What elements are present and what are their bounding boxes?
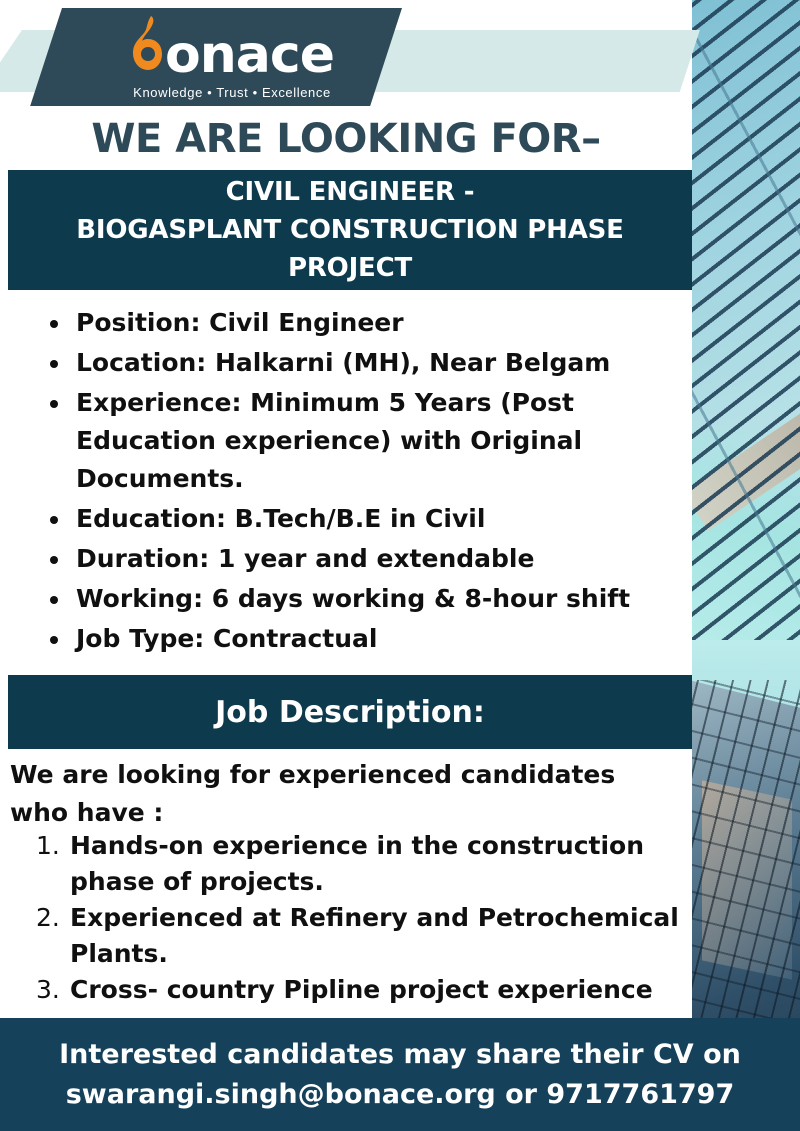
- list-item: Job Type: Contractual: [40, 620, 680, 658]
- footer-contact[interactable]: swarangi.singh@bonace.org or 9717761797: [66, 1075, 735, 1115]
- role-line-2: BIOGASPLANT CONSTRUCTION PHASE: [76, 211, 623, 249]
- list-item: Experienced at Refinery and Petrochemica…: [36, 900, 686, 972]
- role-line-1: CIVIL ENGINEER -: [226, 173, 475, 211]
- list-item: Location: Halkarni (MH), Near Belgam: [40, 344, 680, 382]
- list-item: Hands-on experience in the construction …: [36, 828, 686, 900]
- role-banner: CIVIL ENGINEER - BIOGASPLANT CONSTRUCTIO…: [8, 170, 692, 290]
- job-description-list: Hands-on experience in the construction …: [36, 828, 686, 1008]
- job-details-list: Position: Civil Engineer Location: Halka…: [40, 304, 680, 660]
- flame-b-icon: [130, 14, 164, 72]
- list-item: Position: Civil Engineer: [40, 304, 680, 342]
- list-item: Working: 6 days working & 8-hour shift: [40, 580, 680, 618]
- list-item: Education: B.Tech/B.E in Civil: [40, 500, 680, 538]
- list-item: Cross- country Pipline project experienc…: [36, 972, 686, 1008]
- job-description-banner: Job Description:: [8, 675, 692, 749]
- role-line-3: PROJECT: [288, 249, 412, 287]
- facade-mullions: [692, 0, 800, 640]
- brand-logo: onace Knowledge • Trust • Excellence: [62, 8, 402, 106]
- page-title: WE ARE LOOKING FOR–: [0, 112, 692, 166]
- contact-footer: Interested candidates may share their CV…: [0, 1018, 800, 1131]
- job-description-intro: We are looking for experienced candidate…: [10, 756, 670, 832]
- glass-facade-photo: [692, 0, 800, 640]
- logo-text: onace: [165, 29, 334, 81]
- job-description-heading: Job Description:: [215, 695, 485, 730]
- photo-band: [692, 0, 800, 1131]
- job-poster: onace Knowledge • Trust • Excellence WE …: [0, 0, 800, 1131]
- list-item: Duration: 1 year and extendable: [40, 540, 680, 578]
- list-item: Experience: Minimum 5 Years (Post Educat…: [40, 384, 680, 498]
- footer-line-1: Interested candidates may share their CV…: [59, 1035, 741, 1075]
- logo-wordmark: onace: [130, 14, 334, 81]
- logo-tagline: Knowledge • Trust • Excellence: [133, 85, 331, 100]
